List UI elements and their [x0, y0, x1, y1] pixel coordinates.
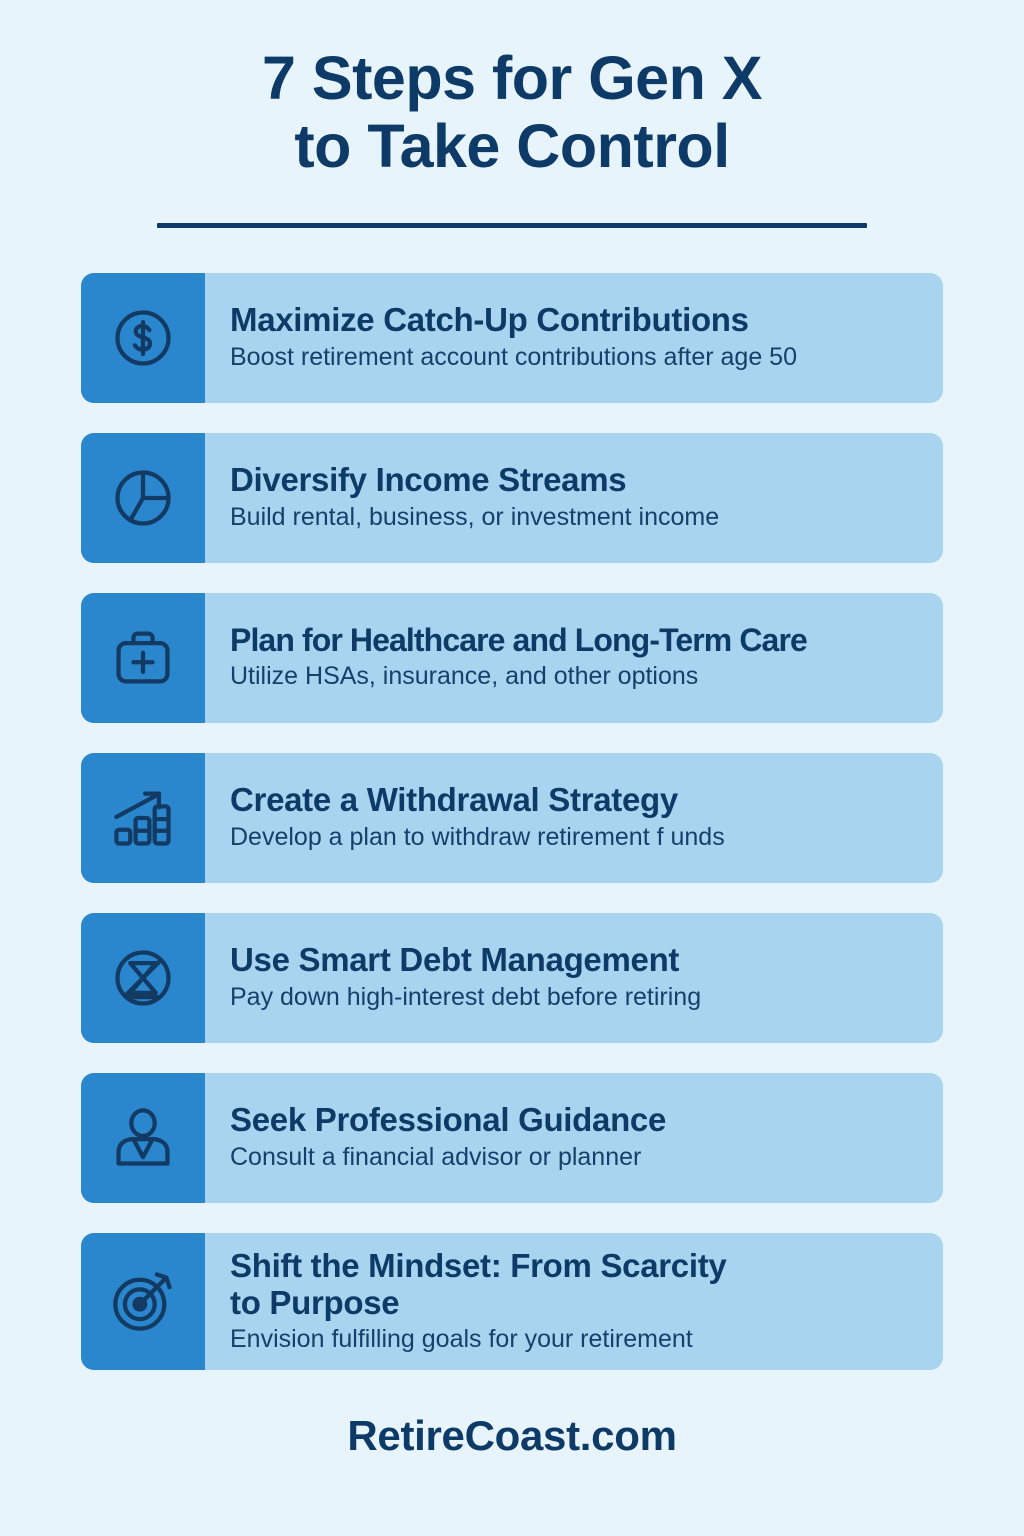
step-7-body: Shift the Mindset: From Scarcity to Purp… — [205, 1233, 943, 1371]
pie-chart-icon — [109, 464, 177, 532]
target-arrow-icon — [109, 1267, 177, 1335]
infographic-page: 7 Steps for Gen X to Take Control Maximi… — [0, 0, 1024, 1536]
step-4-title: Create a Withdrawal Strategy — [230, 781, 921, 818]
page-title: 7 Steps for Gen X to Take Control — [0, 44, 1024, 181]
page-title-line-2: to Take Control — [90, 112, 934, 180]
step-card-3[interactable]: Plan for Healthcare and Long-Term Care U… — [81, 593, 943, 723]
step-1-icon-panel — [81, 273, 205, 403]
dollar-circle-icon — [109, 304, 177, 372]
footer: RetireCoast.com — [0, 1412, 1024, 1460]
step-5-icon-panel — [81, 913, 205, 1043]
person-advisor-icon — [109, 1104, 177, 1172]
step-2-icon-panel — [81, 433, 205, 563]
step-2-body: Diversify Income Streams Build rental, b… — [205, 433, 943, 563]
step-5-title: Use Smart Debt Management — [230, 941, 921, 978]
step-7-icon-panel — [81, 1233, 205, 1371]
step-card-1[interactable]: Maximize Catch-Up Contributions Boost re… — [81, 273, 943, 403]
step-4-body: Create a Withdrawal Strategy Develop a p… — [205, 753, 943, 883]
step-7-subtitle: Envision fulfilling goals for your retir… — [230, 1324, 921, 1354]
step-3-body: Plan for Healthcare and Long-Term Care U… — [205, 593, 943, 723]
step-card-2[interactable]: Diversify Income Streams Build rental, b… — [81, 433, 943, 563]
step-4-icon-panel — [81, 753, 205, 883]
step-1-title: Maximize Catch-Up Contributions — [230, 301, 921, 338]
step-1-body: Maximize Catch-Up Contributions Boost re… — [205, 273, 943, 403]
step-card-6[interactable]: Seek Professional Guidance Consult a fin… — [81, 1073, 943, 1203]
header: 7 Steps for Gen X to Take Control — [0, 0, 1024, 228]
medical-kit-icon — [109, 624, 177, 692]
step-1-subtitle: Boost retirement account contributions a… — [230, 342, 921, 372]
step-3-title: Plan for Healthcare and Long-Term Care — [230, 622, 921, 658]
step-2-title: Diversify Income Streams — [230, 461, 921, 498]
steps-list: Maximize Catch-Up Contributions Boost re… — [81, 273, 943, 1371]
page-title-line-1: 7 Steps for Gen X — [90, 44, 934, 112]
step-4-subtitle: Develop a plan to withdraw retirement f … — [230, 822, 921, 852]
growth-chart-arrow-icon — [109, 784, 177, 852]
step-7-title: Shift the Mindset: From Scarcity to Purp… — [230, 1247, 921, 1322]
step-5-subtitle: Pay down high-interest debt before retir… — [230, 982, 921, 1012]
title-divider — [157, 223, 867, 228]
step-6-body: Seek Professional Guidance Consult a fin… — [205, 1073, 943, 1203]
step-6-subtitle: Consult a financial advisor or planner — [230, 1142, 921, 1172]
step-2-subtitle: Build rental, business, or investment in… — [230, 502, 921, 532]
brand-name: RetireCoast.com — [0, 1412, 1024, 1460]
step-6-icon-panel — [81, 1073, 205, 1203]
step-5-body: Use Smart Debt Management Pay down high-… — [205, 913, 943, 1043]
step-card-7[interactable]: Shift the Mindset: From Scarcity to Purp… — [81, 1233, 943, 1371]
step-6-title: Seek Professional Guidance — [230, 1101, 921, 1138]
step-3-icon-panel — [81, 593, 205, 723]
step-3-subtitle: Utilize HSAs, insurance, and other optio… — [230, 661, 921, 691]
step-card-5[interactable]: Use Smart Debt Management Pay down high-… — [81, 913, 943, 1043]
step-card-4[interactable]: Create a Withdrawal Strategy Develop a p… — [81, 753, 943, 883]
no-debt-hourglass-icon — [109, 944, 177, 1012]
